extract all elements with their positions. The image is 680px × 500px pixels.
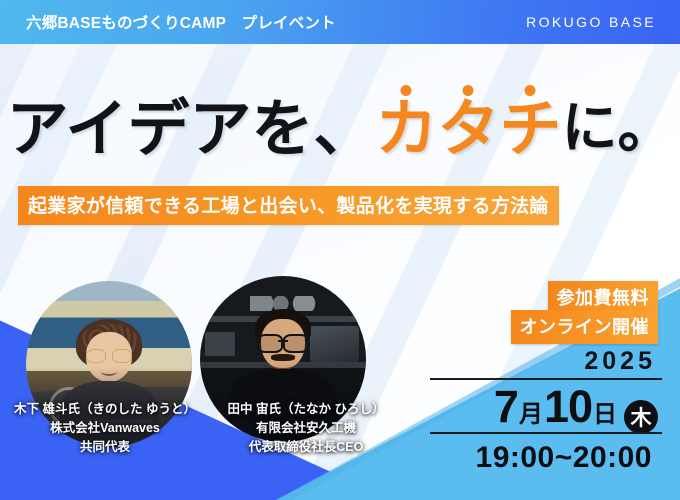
- headline-part1: アイデアを、: [7, 98, 376, 160]
- speaker-2-caption: 田中 宙氏（たなか ひろし） 有限会社安久工機 代表取締役社長CEO: [196, 400, 416, 456]
- speaker-1-role: 共同代表: [0, 438, 210, 457]
- emphasis-char-2: タ: [437, 98, 499, 160]
- event-month-unit: 月: [519, 403, 543, 427]
- event-year: 2025: [584, 347, 656, 376]
- badge-online-event: オンライン開催: [511, 310, 659, 344]
- headline-part2: に。: [561, 101, 673, 157]
- headline-emphasis: カタチ: [375, 98, 561, 160]
- speaker-2-moustache: [271, 354, 294, 361]
- speaker-2-name: 田中 宙氏（たなか ひろし）: [196, 400, 416, 419]
- event-day-unit: 日: [593, 403, 617, 427]
- speaker-1-company: 株式会社Vanwaves: [0, 419, 210, 438]
- emphasis-char-1: カ: [375, 98, 437, 160]
- event-date: 7 月 10 日 木: [494, 384, 658, 431]
- event-time: 19:00~20:00: [476, 441, 652, 475]
- date-rule-bottom: [430, 432, 662, 434]
- event-day-number: 10: [544, 384, 592, 429]
- speaker-1-caption: 木下 雄斗氏（きのした ゆうと） 株式会社Vanwaves 共同代表: [0, 400, 210, 456]
- workshop-machine-left: [205, 332, 235, 355]
- speaker-2-glasses-bridge: [278, 340, 288, 342]
- header-bar: 六郷BASEものづくりCAMP プレイベント ROKUGO BASE: [0, 0, 680, 44]
- headline: アイデアを、 カタチ に。: [0, 86, 680, 172]
- subtitle-bar: 起業家が信頼できる工場と出会い、製品化を実現する方法論: [18, 186, 559, 225]
- emphasis-char-3: チ: [499, 98, 561, 160]
- speaker-1-name: 木下 雄斗氏（きのした ゆうと）: [0, 400, 210, 419]
- event-banner: 六郷BASEものづくりCAMP プレイベント ROKUGO BASE アイデアを…: [0, 0, 680, 500]
- speaker-1-glasses-icon: [86, 349, 132, 361]
- speaker-2-role: 代表取締役社長CEO: [196, 438, 416, 457]
- workshop-machine-right: [310, 326, 360, 363]
- brand-logo-text: ROKUGO BASE: [526, 14, 656, 30]
- date-rule-top: [430, 378, 662, 380]
- speaker-2-company: 有限会社安久工機: [196, 419, 416, 438]
- event-month-number: 7: [494, 384, 518, 429]
- event-weekday-badge: 木: [624, 400, 658, 434]
- header-title: 六郷BASEものづくりCAMP プレイベント: [26, 11, 336, 33]
